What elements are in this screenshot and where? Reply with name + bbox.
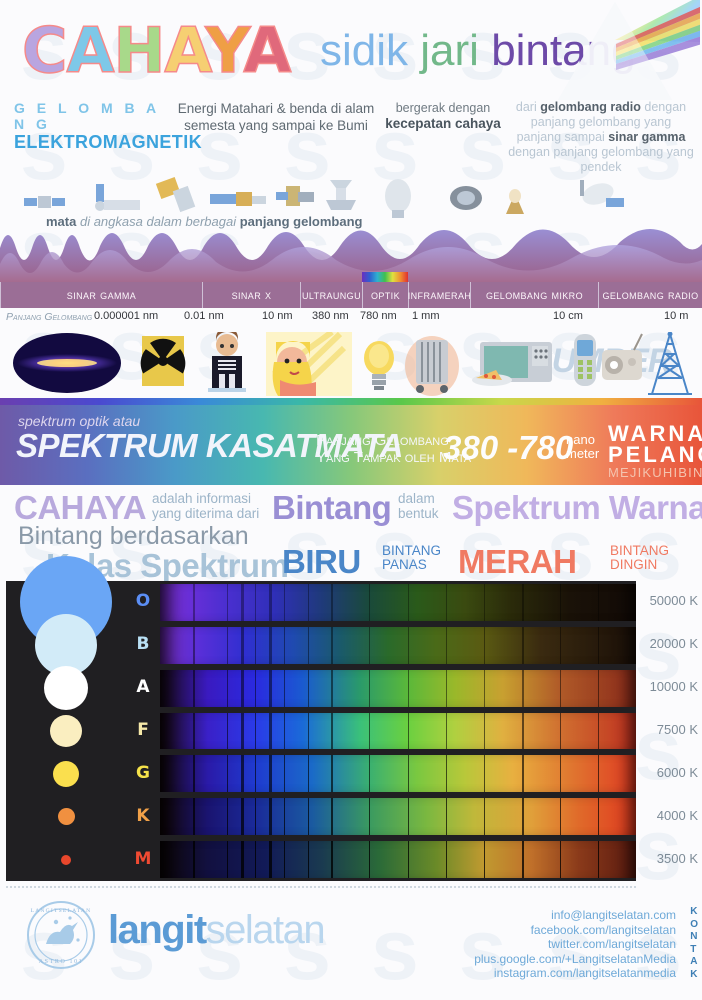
absorption-line xyxy=(331,841,333,878)
ultraviolet-sunlight-icon xyxy=(266,332,352,396)
banner-rainbow-line1: WARNA xyxy=(608,423,702,444)
absorption-line xyxy=(241,755,244,792)
spectrum-strip-K xyxy=(160,798,636,835)
wavelength-tick: 380 nm xyxy=(312,310,349,322)
statement-11: PANAS xyxy=(382,557,427,572)
star-disc-K xyxy=(58,808,75,825)
footer-divider xyxy=(6,886,636,888)
absorption-line xyxy=(522,670,524,707)
absorption-line xyxy=(331,627,333,664)
absorption-line xyxy=(269,627,272,664)
statement-13: BINTANG xyxy=(610,543,669,558)
statement-4: dalam xyxy=(398,491,435,506)
absorption-line xyxy=(241,627,244,664)
sat-caption-mid: di angkasa dalam berbagai xyxy=(76,214,239,229)
range-radio: gelombang radio xyxy=(540,100,641,114)
absorption-line xyxy=(241,798,244,835)
absorption-line xyxy=(331,755,333,792)
star-size-column xyxy=(6,581,126,881)
absorption-line xyxy=(560,584,561,621)
em-band-sinar-x: Sinar X xyxy=(202,282,300,308)
absorption-line xyxy=(598,584,599,621)
absorption-line xyxy=(193,841,194,878)
em-band-inframerah: Inframerah xyxy=(408,282,470,308)
kontak-letter: K xyxy=(690,969,698,982)
absorption-line xyxy=(331,670,333,707)
subtitle-word-sidik: sidik xyxy=(320,26,408,75)
intro-text-row: G E L O M B A N G ELEKTROMAGNETIK Energi… xyxy=(0,100,702,170)
spectral-class-K: K xyxy=(126,806,160,826)
spectrum-strip-M xyxy=(160,841,636,878)
absorption-line xyxy=(193,755,194,792)
gamma-ray-sky-map-icon xyxy=(12,332,122,394)
absorption-line xyxy=(598,713,599,750)
microwave-oven-icon xyxy=(470,332,554,392)
absorption-line xyxy=(284,627,285,664)
range-text-3: dengan panjang gelombang yang pendek xyxy=(508,145,694,174)
wavelength-tick: 10 nm xyxy=(262,310,293,322)
em-band-ultraungu: Ultraungu xyxy=(300,282,362,308)
absorption-line xyxy=(269,798,272,835)
contact-list: info@langitselatan.comfacebook.com/langi… xyxy=(474,908,676,981)
statement-block: CAHAYAadalah informasiyang diterima dari… xyxy=(0,485,702,581)
absorption-line xyxy=(241,584,244,621)
absorption-line xyxy=(308,755,309,792)
absorption-line xyxy=(269,670,272,707)
wavelength-scale-row: Panjang Gelombang 0.000001 nm0.01 nm10 n… xyxy=(0,308,702,328)
absorption-line xyxy=(446,755,447,792)
absorption-line xyxy=(227,584,228,621)
range-gamma: sinar gamma xyxy=(608,130,685,144)
absorption-line xyxy=(560,713,561,750)
absorption-line xyxy=(408,627,410,664)
langitselatan-wordmark: langitselatan xyxy=(108,908,324,953)
banner-unit-line2: meter xyxy=(566,447,599,461)
star-disc-G xyxy=(53,761,79,787)
infographic-page: ssssssssssssssssssssssssssssssssssssssss… xyxy=(0,0,702,1000)
absorption-line xyxy=(522,798,524,835)
absorption-line xyxy=(241,841,244,878)
absorption-line xyxy=(284,755,285,792)
em-band-optik: Optik xyxy=(362,282,408,308)
absorption-line xyxy=(284,841,285,878)
absorption-line xyxy=(369,713,370,750)
temperature-labels-column: 50000 K20000 K10000 K7500 K6000 K4000 K3… xyxy=(636,581,702,881)
wavelength-tick: 780 nm xyxy=(360,310,397,322)
satellites-caption: mata di angkasa dalam berbagai panjang g… xyxy=(46,214,363,229)
wavelength-tick: 10 cm xyxy=(553,310,583,322)
absorption-line xyxy=(255,713,256,750)
infrared-heater-icon xyxy=(404,332,460,396)
banner-rainbow-line2: PELANGI xyxy=(608,444,702,465)
absorption-line xyxy=(484,670,485,707)
statement-1: adalah informasi xyxy=(152,491,251,506)
radio-tower-icon xyxy=(644,332,696,398)
contact-line[interactable]: instagram.com/langitselatanmedia xyxy=(474,966,676,981)
contact-line[interactable]: plus.google.com/+LangitselatanMedia xyxy=(474,952,676,967)
em-band-gelombang-radio: Gelombang radio xyxy=(598,282,702,308)
absorption-line xyxy=(408,670,410,707)
intro-col-electromagnetic: G E L O M B A N G ELEKTROMAGNETIK xyxy=(14,100,174,153)
statement-2: yang diterima dari xyxy=(152,506,259,521)
absorption-line xyxy=(369,670,370,707)
absorption-line xyxy=(193,670,194,707)
absorption-line xyxy=(598,627,599,664)
banner-rainbow-title: WARNA PELANGI xyxy=(608,423,702,465)
absorption-line xyxy=(484,798,485,835)
spectral-class-chart: OBAFGKM 50000 K20000 K10000 K7500 K6000 … xyxy=(0,581,702,886)
page-title: CAHAYA xyxy=(22,14,290,87)
absorption-line xyxy=(255,798,256,835)
title-letter-3: A xyxy=(164,14,205,87)
absorption-line xyxy=(560,755,561,792)
title-letter-1: A xyxy=(67,14,114,87)
absorption-line xyxy=(269,584,272,621)
star-disc-F xyxy=(50,715,82,747)
absorption-line xyxy=(227,670,228,707)
spectral-class-A: A xyxy=(126,677,160,697)
absorption-line xyxy=(193,584,194,621)
title-letter-2: H xyxy=(114,14,165,87)
sat-caption-bold: mata xyxy=(46,214,76,229)
absorption-line xyxy=(241,670,244,707)
absorption-line xyxy=(408,584,410,621)
absorption-line xyxy=(369,841,370,878)
absorption-line xyxy=(522,755,524,792)
absorption-line xyxy=(598,798,599,835)
em-band-gelombang-mikro: Gelombang mikro xyxy=(470,282,598,308)
temperature-label-B: 20000 K xyxy=(636,636,698,651)
spectra-strips-column xyxy=(160,581,636,881)
intro-kecepatan-label: kecepatan cahaya xyxy=(385,116,501,131)
kontak-vertical-label: KONTAK xyxy=(690,906,698,981)
absorption-line xyxy=(408,755,410,792)
wavelength-tick: 0.000001 nm xyxy=(94,310,158,322)
statement-14: DINGIN xyxy=(610,557,657,572)
em-spectrum-bar: Sinar GammaSinar XUltraunguOptikInframer… xyxy=(0,282,702,308)
absorption-line xyxy=(193,798,194,835)
absorption-line xyxy=(560,841,561,878)
absorption-line xyxy=(308,713,309,750)
title-letter-4: Y xyxy=(205,14,243,87)
sat-caption-bold2: panjang gelombang xyxy=(240,214,363,229)
absorption-line xyxy=(331,584,333,621)
intro-col-speed: bergerak dengan kecepatan cahaya xyxy=(382,100,504,132)
seal-top-text: LANGITSELATAN xyxy=(31,908,92,914)
intro-col-energy: Energi Matahari & benda di alam semesta … xyxy=(176,100,376,134)
absorption-line xyxy=(484,841,485,878)
spectrum-strip-F xyxy=(160,713,636,750)
light-bulb-icon xyxy=(358,332,400,394)
absorption-line xyxy=(284,798,285,835)
footer: LANGITSELATAN ASTRO 101 langitselatan in… xyxy=(0,886,702,980)
title-letter-5: A xyxy=(243,14,290,87)
spectrum-strip-A xyxy=(160,670,636,707)
absorption-line xyxy=(227,798,228,835)
mobile-phone-icon xyxy=(568,332,602,392)
temperature-label-M: 3500 K xyxy=(636,851,698,866)
absorption-line xyxy=(227,713,228,750)
temperature-label-O: 50000 K xyxy=(636,593,698,608)
kontak-letter: T xyxy=(690,944,698,957)
xray-scan-icon xyxy=(200,332,254,396)
absorption-line xyxy=(369,627,370,664)
absorption-line xyxy=(598,755,599,792)
spectrum-strip-G xyxy=(160,755,636,792)
kontak-letter: A xyxy=(690,956,698,969)
absorption-line xyxy=(446,584,447,621)
banner-mnemonic: MEJIKUHIBINIU xyxy=(608,465,702,480)
temperature-label-F: 7500 K xyxy=(636,722,698,737)
statement-10: BINTANG xyxy=(382,543,441,558)
contact-line[interactable]: facebook.com/langitselatan xyxy=(474,923,676,938)
statement-5: bentuk xyxy=(398,506,439,521)
absorption-line xyxy=(522,584,524,621)
absorption-line xyxy=(369,584,370,621)
absorption-line xyxy=(308,841,309,878)
visible-spectrum-banner: spektrum optik atau SPEKTRUM KASATMATA P… xyxy=(0,405,702,485)
temperature-label-A: 10000 K xyxy=(636,679,698,694)
absorption-line xyxy=(269,755,272,792)
intro-elektromagnetik-label: ELEKTROMAGNETIK xyxy=(14,132,174,153)
satellite-icons-group xyxy=(0,172,702,244)
banner-unit: nano meter xyxy=(566,433,599,461)
absorption-line xyxy=(598,670,599,707)
contact-line[interactable]: twitter.com/langitselatan xyxy=(474,937,676,952)
absorption-line xyxy=(560,670,561,707)
absorption-line xyxy=(484,713,485,750)
absorption-line xyxy=(255,841,256,878)
radiation-hazard-icon xyxy=(140,332,186,390)
star-disc-M xyxy=(61,855,71,865)
spectral-class-letter-column: OBAFGKM xyxy=(126,581,160,881)
absorption-line xyxy=(241,713,244,750)
absorption-line xyxy=(255,584,256,621)
em-band-sinar-gamma: Sinar Gamma xyxy=(0,282,202,308)
absorption-line xyxy=(446,798,447,835)
absorption-line xyxy=(446,713,447,750)
absorption-line xyxy=(331,713,333,750)
absorption-line xyxy=(484,627,485,664)
intro-bergerak-label: bergerak dengan xyxy=(382,100,504,116)
absorption-line xyxy=(269,713,272,750)
absorption-line xyxy=(560,627,561,664)
kontak-letter: K xyxy=(690,906,698,919)
absorption-line xyxy=(522,627,524,664)
absorption-line xyxy=(193,627,194,664)
absorption-line xyxy=(308,584,309,621)
absorption-line xyxy=(255,755,256,792)
statement-6: Spektrum Warna xyxy=(452,489,702,527)
contact-line[interactable]: info@langitselatan.com xyxy=(474,908,676,923)
wavelength-axis-label: Panjang Gelombang xyxy=(6,311,92,323)
statement-12: MERAH xyxy=(458,543,577,581)
absorption-line xyxy=(255,627,256,664)
intro-col-range: dari gelombang radio dengan panjang gelo… xyxy=(508,100,694,175)
banner-wavelength-range: 380 -780 xyxy=(443,429,573,467)
absorption-line xyxy=(446,670,447,707)
spectral-class-B: B xyxy=(126,634,160,654)
absorption-line xyxy=(408,841,410,878)
absorption-line xyxy=(255,670,256,707)
wavelength-tick: 1 mm xyxy=(412,310,440,322)
kontak-letter: N xyxy=(690,931,698,944)
spectral-class-O: O xyxy=(126,591,160,611)
statement-7: Bintang berdasarkan xyxy=(18,529,249,544)
visible-spectrum-thin-bar xyxy=(0,398,702,405)
absorption-line xyxy=(408,798,410,835)
star-disc-A xyxy=(44,666,88,710)
absorption-line xyxy=(284,670,285,707)
optical-band-rainbow-marker xyxy=(362,272,408,282)
absorption-line xyxy=(408,713,410,750)
kontak-letter: O xyxy=(690,919,698,932)
absorption-line xyxy=(484,755,485,792)
statement-9: BIRU xyxy=(282,543,361,581)
absorption-line xyxy=(227,627,228,664)
banner-unit-line1: nano xyxy=(566,433,599,447)
absorption-line xyxy=(484,584,485,621)
prism-rainbow-graphic xyxy=(440,0,700,105)
absorption-line xyxy=(560,798,561,835)
statement-3: Bintang xyxy=(272,489,391,527)
wavelength-tick: 10 m xyxy=(664,310,688,322)
spectral-class-F: F xyxy=(126,720,160,740)
spectral-class-G: G xyxy=(126,763,160,783)
absorption-line xyxy=(227,841,228,878)
absorption-line xyxy=(308,627,309,664)
absorption-line xyxy=(446,841,447,878)
absorption-line xyxy=(369,755,370,792)
absorption-line xyxy=(308,798,309,835)
temperature-label-G: 6000 K xyxy=(636,765,698,780)
absorption-line xyxy=(284,584,285,621)
absorption-line xyxy=(331,798,333,835)
logo-bold-part: langit xyxy=(108,908,206,952)
title-letter-0: C xyxy=(22,14,67,87)
absorption-line xyxy=(284,713,285,750)
temperature-label-K: 4000 K xyxy=(636,808,698,823)
absorption-line xyxy=(446,627,447,664)
absorption-line xyxy=(193,713,194,750)
seal-bottom-text: ASTRO 101 xyxy=(39,959,84,965)
absorption-line xyxy=(269,841,272,878)
spectral-class-M: M xyxy=(126,849,160,869)
absorption-line xyxy=(522,713,524,750)
absorption-line xyxy=(308,670,309,707)
em-source-icons-row: SUMBER xyxy=(0,328,702,398)
wavelength-tick: 0.01 nm xyxy=(184,310,224,322)
logo-light-part: selatan xyxy=(206,908,324,952)
satellites-wave-band: mata di angkasa dalam berbagai panjang g… xyxy=(0,172,702,282)
range-text-1: dari xyxy=(516,100,540,114)
spectrum-strip-B xyxy=(160,627,636,664)
absorption-line xyxy=(369,798,370,835)
absorption-line xyxy=(598,841,599,878)
absorption-line xyxy=(522,841,524,878)
spectrum-strip-O xyxy=(160,584,636,621)
radio-receiver-icon xyxy=(600,332,646,388)
absorption-line xyxy=(227,755,228,792)
langitselatan-seal-logo: LANGITSELATAN ASTRO 101 xyxy=(26,900,96,970)
header: CAHAYA sidik jari bintang xyxy=(0,0,702,100)
intro-gelombang-label: G E L O M B A N G xyxy=(14,100,174,132)
